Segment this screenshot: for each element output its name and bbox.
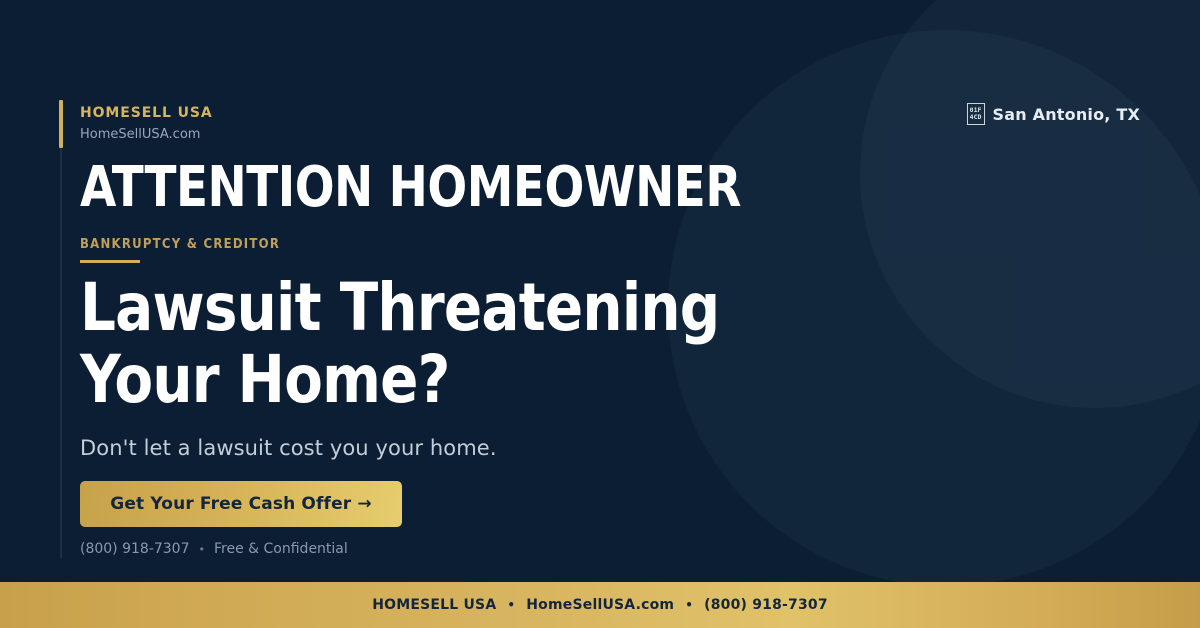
- subhead-text: Don't let a lawsuit cost you your home.: [80, 436, 497, 460]
- footer-bar: HOMESELL USA • HomeSellUSA.com • (800) 9…: [0, 582, 1200, 628]
- brand-block: HOMESELL USA HomeSellUSA.com: [80, 104, 213, 144]
- footer-domain[interactable]: HomeSellUSA.com: [526, 597, 674, 613]
- location-label: San Antonio, TX: [993, 105, 1140, 124]
- footer-phone[interactable]: (800) 918-7307: [704, 597, 828, 613]
- left-rail-line: [60, 148, 62, 558]
- contact-line: (800) 918-7307 • Free & Confidential: [80, 541, 348, 557]
- footer-content: HOMESELL USA • HomeSellUSA.com • (800) 9…: [372, 597, 828, 613]
- cta-get-free-cash-offer-button[interactable]: Get Your Free Cash Offer →: [80, 481, 402, 527]
- category-eyebrow-label: BANKRUPTCY & CREDITOR: [80, 237, 280, 252]
- contact-separator-dot: •: [199, 543, 206, 556]
- main-headline: Lawsuit Threatening Your Home?: [80, 272, 719, 416]
- footer-separator-2: •: [685, 598, 693, 612]
- main-headline-line-1: Lawsuit Threatening: [80, 272, 719, 344]
- left-rail-gold-accent: [59, 100, 63, 148]
- location-badge: 01F 4CD San Antonio, TX: [967, 103, 1140, 125]
- pin-icon-codepoint-bottom: 4CD: [970, 114, 982, 121]
- brand-name: HOMESELL USA: [80, 104, 213, 123]
- eyebrow-underline: [80, 260, 140, 263]
- location-pin-icon: 01F 4CD: [967, 103, 985, 125]
- footer-brand: HOMESELL USA: [372, 597, 496, 613]
- footer-separator-1: •: [507, 598, 515, 612]
- brand-domain: HomeSellUSA.com: [80, 125, 213, 145]
- contact-phone[interactable]: (800) 918-7307: [80, 541, 190, 557]
- main-headline-line-2: Your Home?: [80, 344, 719, 416]
- ad-creative-root: HOMESELL USA HomeSellUSA.com 01F 4CD San…: [0, 0, 1200, 628]
- contact-note: Free & Confidential: [214, 541, 348, 557]
- attention-headline: ATTENTION HOMEOWNER: [80, 158, 741, 217]
